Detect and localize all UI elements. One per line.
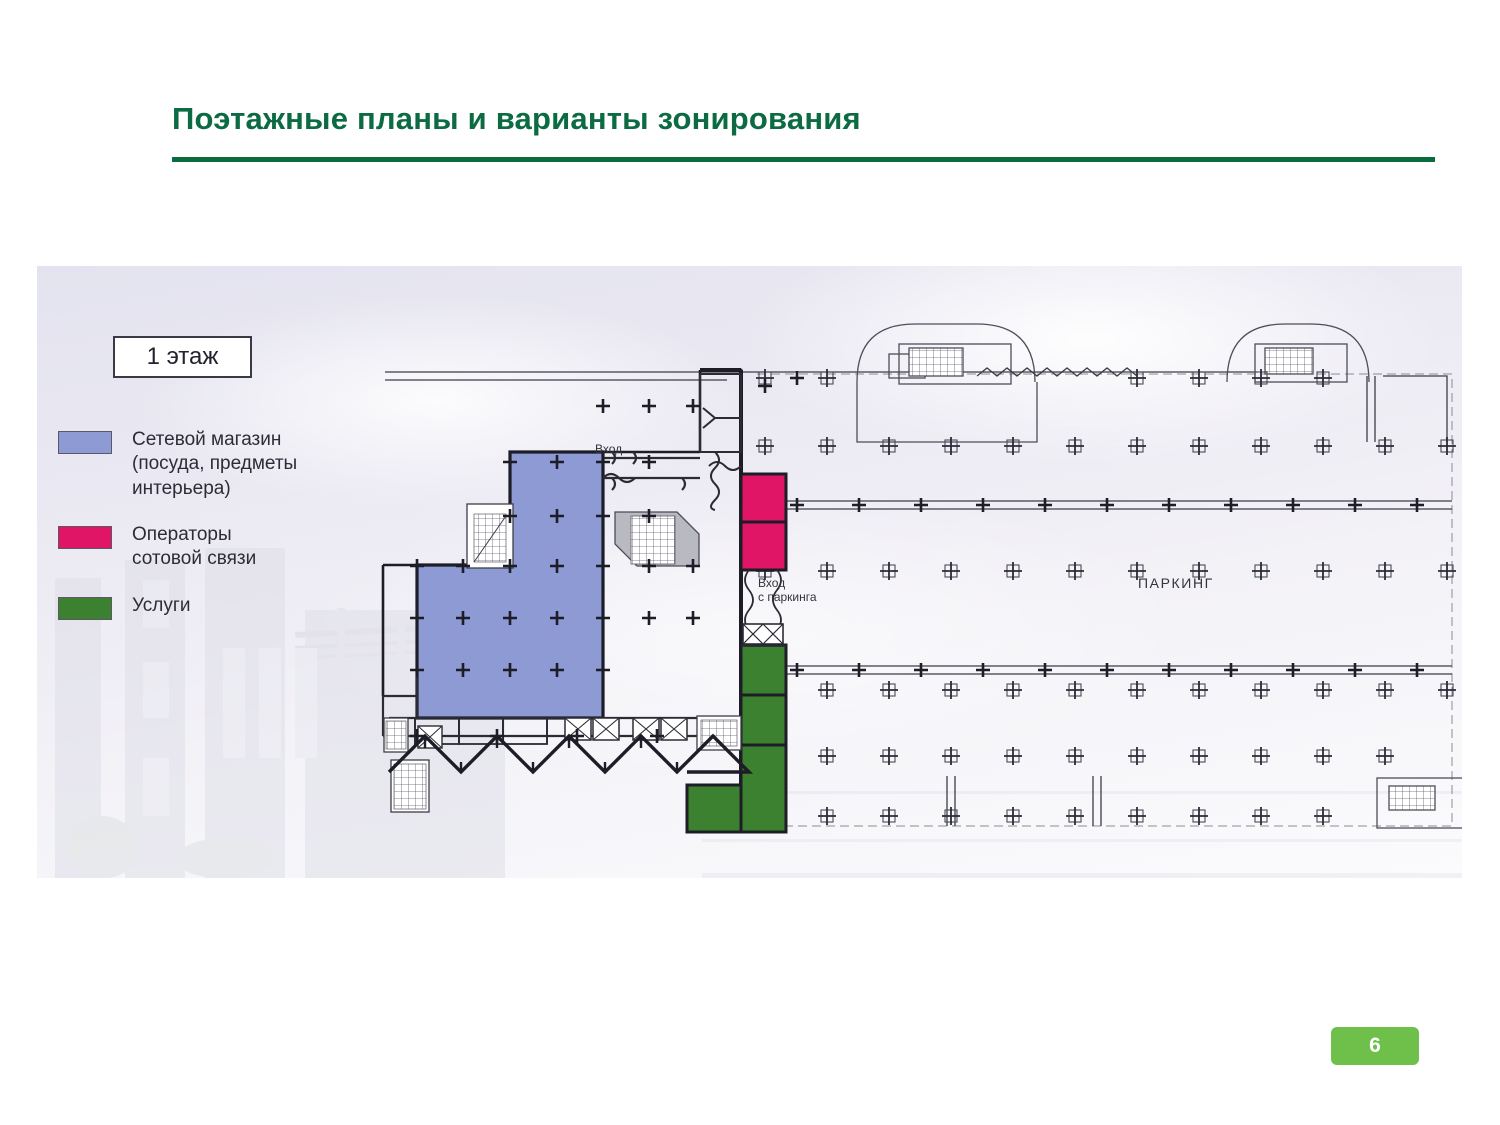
escalator-symbol	[615, 512, 699, 566]
legend-item-network-store: Сетевой магазин (посуда, предметы интерь…	[58, 428, 358, 501]
legend-label-services: Услуги	[132, 594, 190, 618]
legend-label-mobile-operators: Операторы сотовой связи	[132, 523, 256, 572]
parking-column-grid	[756, 369, 1456, 825]
zone-network-store	[417, 452, 603, 718]
legend-swatch-services	[58, 597, 112, 620]
legend-label-network-store: Сетевой магазин (посуда, предметы интерь…	[132, 428, 297, 501]
page-number-badge: 6	[1331, 1027, 1419, 1065]
map-label-entrance-main: Вход	[595, 443, 622, 457]
legend: Сетевой магазин (посуда, предметы интерь…	[58, 428, 358, 642]
building-footprint	[383, 370, 786, 832]
map-label-entrance-parking: Вход с паркинга	[758, 577, 817, 605]
map-label-parking: ПАРКИНГ	[1138, 575, 1214, 591]
legend-item-services: Услуги	[58, 594, 358, 620]
floor-tag: 1 этаж	[113, 336, 252, 378]
legend-swatch-mobile-operators	[58, 526, 112, 549]
legend-swatch-network-store	[58, 431, 112, 454]
page-title: Поэтажные планы и варианты зонирования	[172, 101, 1452, 137]
title-underline-rule	[172, 157, 1435, 162]
zone-mobile-operators	[741, 474, 786, 570]
legend-item-mobile-operators: Операторы сотовой связи	[58, 523, 358, 572]
floor-plan-figure: 1 этаж Сетевой магазин (посуда, предметы…	[37, 266, 1462, 878]
